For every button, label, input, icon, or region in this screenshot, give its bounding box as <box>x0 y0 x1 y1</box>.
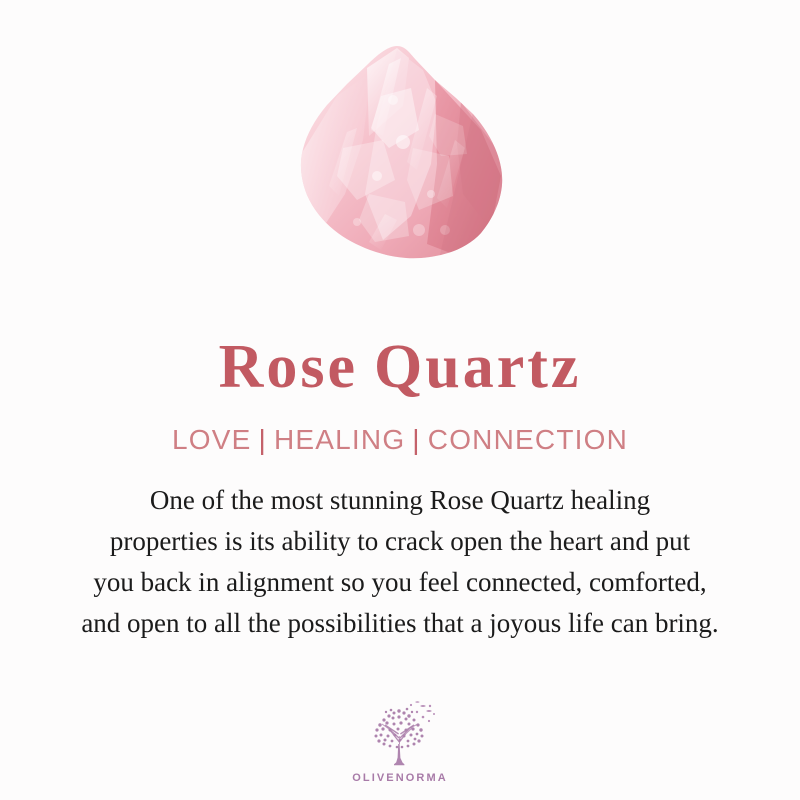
brand-logo: OLIVENORMA <box>0 698 800 784</box>
keyword-connection: CONNECTION <box>428 424 628 455</box>
description-line-3: you back in alignment so you feel connec… <box>20 562 780 603</box>
title-word-rose: Rose <box>219 333 358 401</box>
title-word-quartz: Quartz <box>374 333 581 401</box>
brand-wordmark: OLIVENORMA <box>352 773 448 784</box>
tree-icon <box>363 698 437 770</box>
keyword-separator-2: | <box>405 424 427 455</box>
rose-quartz-crystal-icon <box>285 44 515 276</box>
keyword-love: LOVE <box>172 424 252 455</box>
keyword-subtitle: LOVE|HEALING|CONNECTION <box>172 426 628 454</box>
page-title: RoseQuartz <box>219 336 582 398</box>
product-card: RoseQuartz LOVE|HEALING|CONNECTION One o… <box>0 0 800 800</box>
product-description: One of the most stunning Rose Quartz hea… <box>20 480 780 644</box>
description-line-4: and open to all the possibilities that a… <box>20 603 780 644</box>
keyword-separator-1: | <box>251 424 273 455</box>
keyword-healing: HEALING <box>274 424 405 455</box>
crystal-image-container <box>0 0 800 300</box>
description-line-2: properties is its ability to crack open … <box>20 521 780 562</box>
description-line-1: One of the most stunning Rose Quartz hea… <box>20 480 780 521</box>
